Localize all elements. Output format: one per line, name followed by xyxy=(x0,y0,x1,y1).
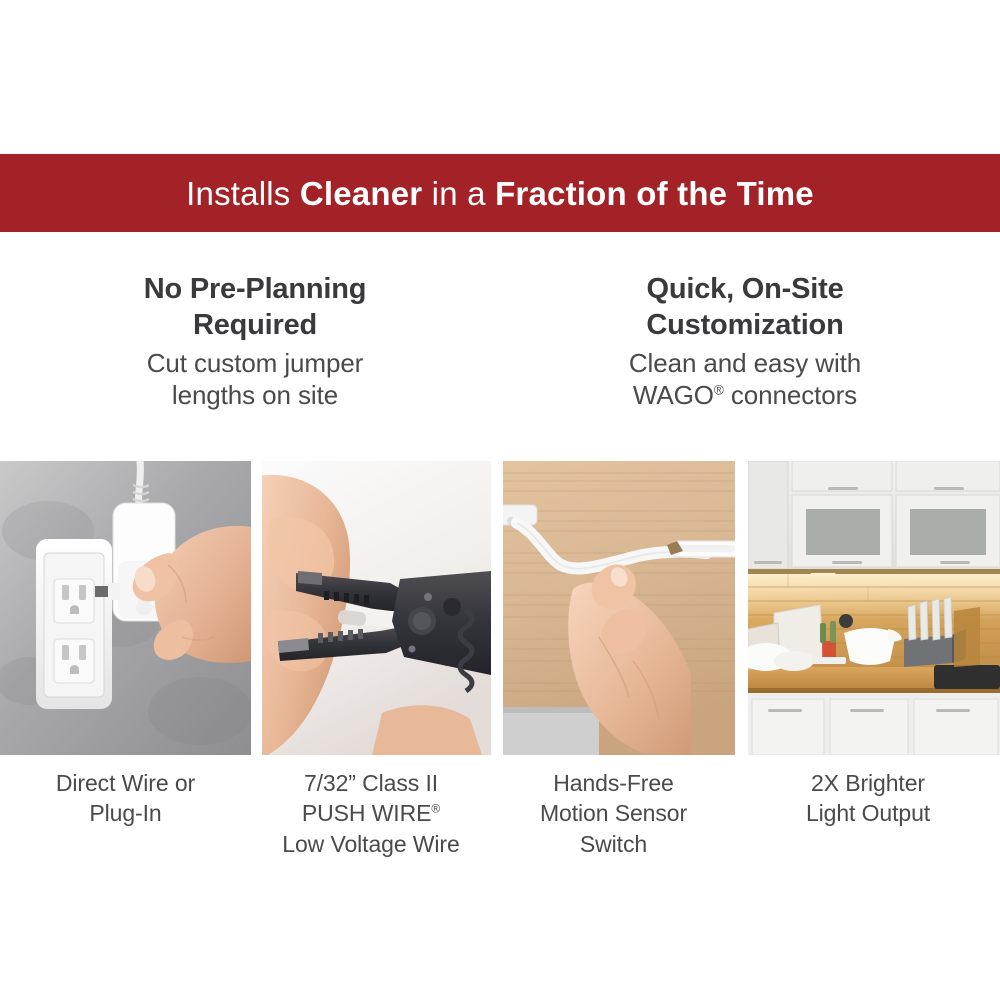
banner-text-bold-2: Fraction of the Time xyxy=(495,175,814,212)
caption-line-3: Low Voltage Wire xyxy=(282,831,459,857)
caption-direct-wire-or-plug-in: Direct Wire or Plug-In xyxy=(0,768,251,859)
feature-body-line-1: Cut custom jumper xyxy=(147,348,363,378)
banner-headline: Installs Cleaner in a Fraction of the Ti… xyxy=(186,177,814,210)
caption-row: Direct Wire or Plug-In 7/32” Class II PU… xyxy=(0,768,1000,859)
headline-banner: Installs Cleaner in a Fraction of the Ti… xyxy=(0,154,1000,232)
registered-trademark-icon: ® xyxy=(714,382,724,397)
feature-heading-line-2: Customization xyxy=(646,309,843,341)
caption-push-wire: 7/32” Class II PUSH WIRE® Low Voltage Wi… xyxy=(251,768,491,859)
feature-column-no-pre-planning: No Pre-Planning Required Cut custom jump… xyxy=(10,272,500,411)
banner-text-light-2: in a xyxy=(422,175,495,212)
feature-heading: No Pre-Planning Required xyxy=(24,272,486,344)
photo-push-wire-low-voltage xyxy=(262,461,491,755)
photo-gap-1 xyxy=(251,461,262,755)
photo-gap-2 xyxy=(491,461,503,755)
photo-direct-wire-or-plug-in xyxy=(0,461,251,755)
feature-body-line-1: Clean and easy with xyxy=(629,348,861,378)
caption-line-2: PUSH WIRE xyxy=(302,800,431,826)
caption-hands-free-motion-sensor: Hands-Free Motion Sensor Switch xyxy=(491,768,736,859)
caption-line-2: Light Output xyxy=(806,800,930,826)
caption-line-1: Hands-Free xyxy=(553,770,673,796)
banner-text-light-1: Installs xyxy=(186,175,300,212)
feature-body: Cut custom jumper lengths on site xyxy=(24,347,486,411)
caption-line-2: Plug-In xyxy=(89,800,161,826)
caption-line-1: Direct Wire or xyxy=(56,770,195,796)
caption-line-1: 7/32” Class II xyxy=(304,770,438,796)
feature-body-brand: WAGO xyxy=(633,380,714,410)
top-whitespace xyxy=(0,0,1000,154)
photo-3-graphic xyxy=(503,461,735,755)
photo-1-graphic xyxy=(0,461,251,755)
feature-heading-line-1: No Pre-Planning xyxy=(144,273,367,305)
caption-2x-brighter: 2X Brighter Light Output xyxy=(736,768,1000,859)
feature-heading: Quick, On-Site Customization xyxy=(514,272,976,344)
caption-line-1: 2X Brighter xyxy=(811,770,925,796)
feature-body-line-2-tail: connectors xyxy=(724,380,857,410)
photo-2x-brighter-kitchen xyxy=(748,461,1000,755)
feature-column-quick-customization: Quick, On-Site Customization Clean and e… xyxy=(500,272,990,411)
caption-line-2: Motion Sensor xyxy=(540,800,687,826)
feature-body-line-2: lengths on site xyxy=(172,380,338,410)
feature-headline-row: No Pre-Planning Required Cut custom jump… xyxy=(0,232,1000,411)
photo-gap-3 xyxy=(735,461,748,755)
photo-4-graphic xyxy=(748,461,1000,755)
photo-2-graphic xyxy=(262,461,491,755)
photo-strip xyxy=(0,461,1000,755)
feature-heading-line-1: Quick, On-Site xyxy=(646,273,843,305)
banner-text-bold-1: Cleaner xyxy=(300,175,422,212)
feature-heading-line-2: Required xyxy=(193,309,317,341)
registered-trademark-icon: ® xyxy=(431,802,440,816)
caption-line-3: Switch xyxy=(580,831,647,857)
feature-body: Clean and easy with WAGO® connectors xyxy=(514,347,976,411)
photo-hands-free-motion-sensor xyxy=(503,461,735,755)
